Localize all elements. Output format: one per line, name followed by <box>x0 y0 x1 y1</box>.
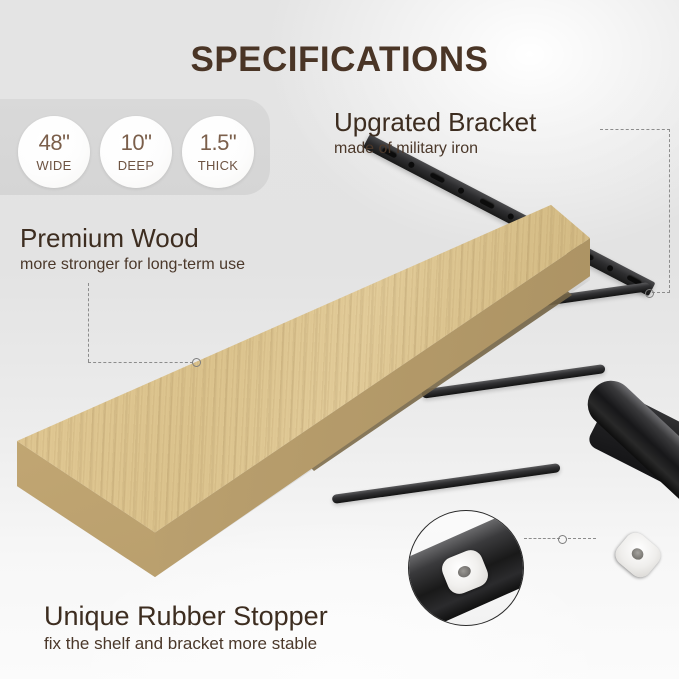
badge-number: 1.5" <box>200 132 236 154</box>
leader-segment <box>88 362 193 363</box>
leader-segment <box>524 538 560 539</box>
leader-endpoint-dot <box>558 535 567 544</box>
badge-number: 48" <box>39 132 70 154</box>
callout-bracket: Upgrated Bracket made of military iron <box>334 108 536 158</box>
badge-label: DEEP <box>118 159 155 172</box>
badge-label: THICK <box>198 159 239 172</box>
badge-thickness: 1.5" THICK <box>182 116 254 188</box>
product-specification-image: SPECIFICATIONS 48" WIDE 10" DEEP 1.5" TH… <box>0 0 679 679</box>
callout-stopper: Unique Rubber Stopper fix the shelf and … <box>44 602 328 655</box>
callout-subtext: made of military iron <box>334 139 536 158</box>
page-title: SPECIFICATIONS <box>0 40 679 80</box>
callout-heading: Unique Rubber Stopper <box>44 602 328 631</box>
badge-number: 10" <box>121 132 152 154</box>
callout-subtext: fix the shelf and bracket more stable <box>44 634 328 654</box>
badge-label: WIDE <box>36 159 71 172</box>
badge-width: 48" WIDE <box>18 116 90 188</box>
callout-wood: Premium Wood more stronger for long-term… <box>20 224 245 274</box>
leader-segment <box>568 538 596 539</box>
callout-subtext: more stronger for long-term use <box>20 255 245 274</box>
callout-heading: Upgrated Bracket <box>334 108 536 136</box>
callout-heading: Premium Wood <box>20 224 245 252</box>
badge-depth: 10" DEEP <box>100 116 172 188</box>
leader-segment <box>88 283 89 362</box>
leader-endpoint-dot <box>192 358 201 367</box>
